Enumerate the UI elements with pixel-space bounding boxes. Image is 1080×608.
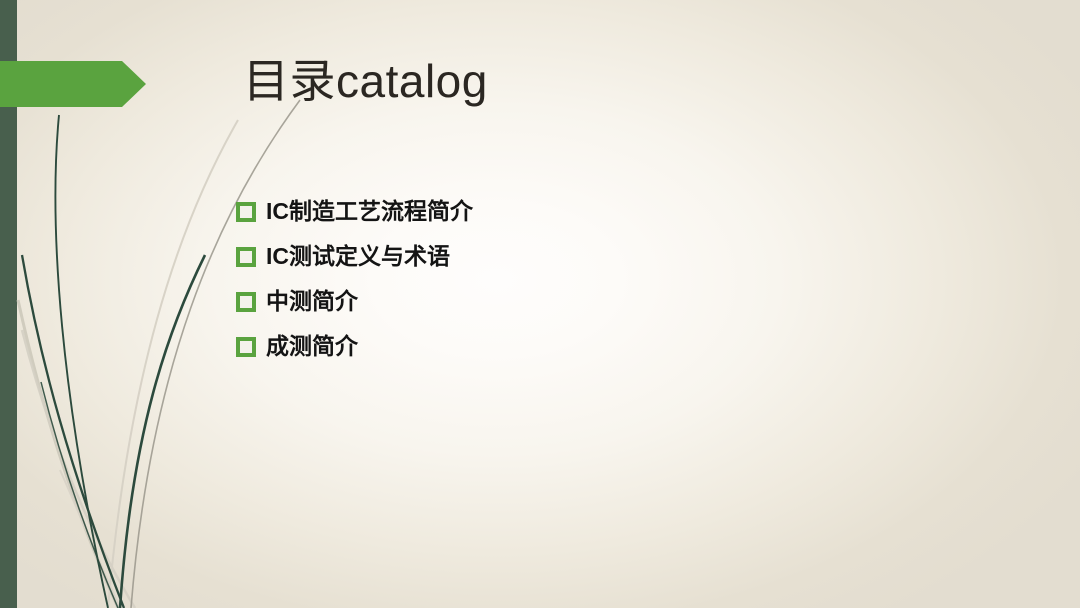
list-item[interactable]: 中测简介 [236,279,856,324]
presentation-slide: 目录catalog IC制造工艺流程简介 IC测试定义与术语 中测简介 成测简介 [0,0,1080,608]
catalog-list: IC制造工艺流程简介 IC测试定义与术语 中测简介 成测简介 [236,189,856,369]
list-item-label: IC制造工艺流程简介 [266,199,473,224]
list-item-label: 中测简介 [266,289,358,314]
list-item-label: IC测试定义与术语 [266,244,450,269]
list-item[interactable]: 成测简介 [236,324,856,369]
square-bullet-icon [236,247,256,267]
arrow-banner-icon [0,61,146,107]
square-bullet-icon [236,292,256,312]
list-item[interactable]: IC测试定义与术语 [236,234,856,279]
list-item[interactable]: IC制造工艺流程简介 [236,189,856,234]
page-title: 目录catalog [243,55,488,108]
list-item-label: 成测简介 [266,334,358,359]
square-bullet-icon [236,337,256,357]
square-bullet-icon [236,202,256,222]
